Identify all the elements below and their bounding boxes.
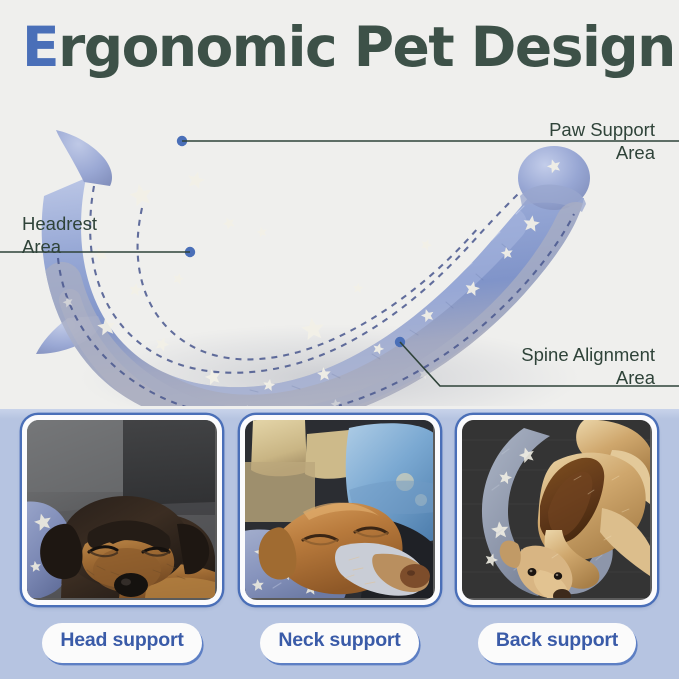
- callout-headrest: Headrest Area: [22, 212, 192, 258]
- product-infographic: Ergonomic Pet Design: [0, 0, 679, 679]
- photo-head-support: [27, 420, 217, 600]
- badge-slot-back: Back support: [457, 623, 657, 663]
- callout-paw-line1: Paw Support: [443, 118, 655, 141]
- badge-slot-neck: Neck support: [240, 623, 440, 663]
- photo-card-row: [0, 415, 679, 615]
- callout-spine-alignment: Spine Alignment Area: [420, 343, 655, 389]
- badge-slot-head: Head support: [22, 623, 222, 663]
- photo-neck-support: [245, 420, 435, 600]
- callout-headrest-line1: Headrest: [22, 212, 192, 235]
- badge-row: Head support Neck support Back support: [0, 623, 679, 663]
- badge-back-support[interactable]: Back support: [478, 623, 636, 663]
- page-title: Ergonomic Pet Design: [22, 14, 662, 80]
- callout-headrest-line2: Area: [22, 235, 192, 258]
- callout-spine-line2: Area: [420, 366, 655, 389]
- ear-top: [56, 130, 112, 186]
- photo-card-neck-support[interactable]: [240, 415, 440, 605]
- callout-spine-line1: Spine Alignment: [420, 343, 655, 366]
- photo-card-back-support[interactable]: [457, 415, 657, 605]
- top-panel: Ergonomic Pet Design: [0, 0, 679, 409]
- badge-neck-support[interactable]: Neck support: [260, 623, 418, 663]
- bottom-band: Head support Neck support Back support: [0, 409, 679, 679]
- photo-back-support: [462, 420, 652, 600]
- badge-head-support[interactable]: Head support: [42, 623, 201, 663]
- title-rest: rgonomic Pet Design: [58, 15, 675, 79]
- photo-card-head-support[interactable]: [22, 415, 222, 605]
- title-highlight-letter: E: [22, 15, 58, 79]
- callout-paw-support: Paw Support Area: [443, 118, 655, 164]
- callout-paw-line2: Area: [443, 141, 655, 164]
